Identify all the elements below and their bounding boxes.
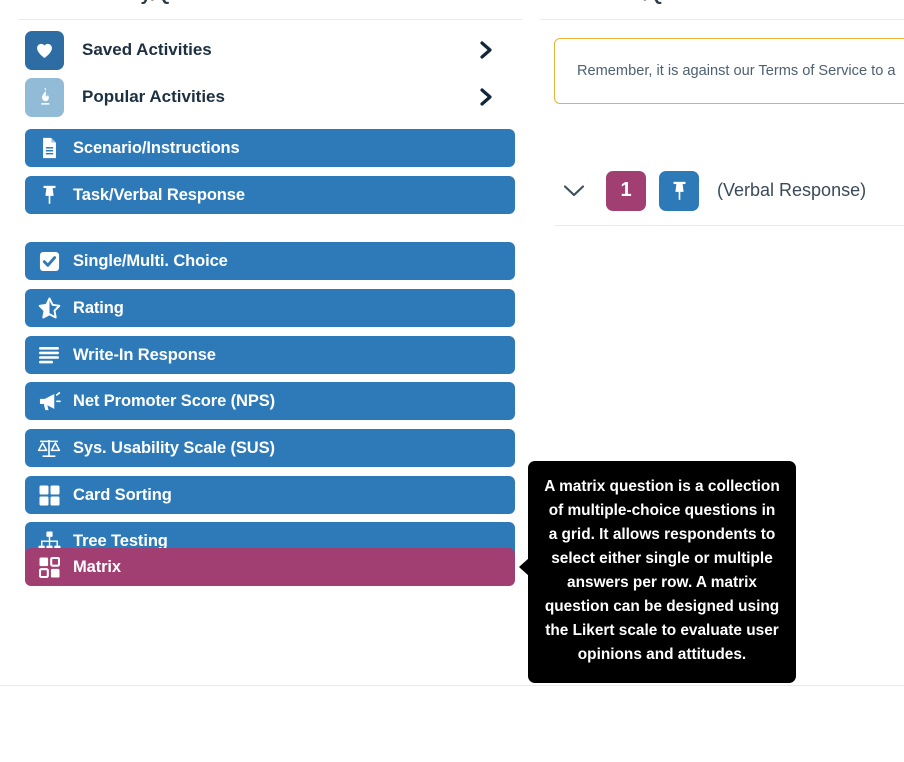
activity-type-label: Scenario/Instructions: [73, 139, 240, 158]
flame-icon: [25, 78, 64, 117]
activity-type-rating[interactable]: Rating: [25, 289, 515, 327]
activity-type-label: Task/Verbal Response: [73, 186, 245, 205]
question-type-label: (Verbal Response): [717, 180, 866, 201]
chevron-right-icon[interactable]: [477, 85, 495, 109]
checkbox-checked-icon: [32, 251, 66, 272]
chevron-right-icon[interactable]: [477, 38, 495, 62]
sidebar-item-saved-activities[interactable]: Saved Activities: [25, 28, 505, 72]
activity-type-label: Matrix: [73, 558, 121, 577]
half-star-icon: [32, 297, 66, 319]
activity-type-task-verbal-response[interactable]: Task/Verbal Response: [25, 176, 515, 214]
grid-squares-icon: [32, 485, 66, 506]
activity-type-system-usability-scale[interactable]: Sys. Usability Scale (SUS): [25, 429, 515, 467]
sidebar-item-label: Saved Activities: [82, 40, 212, 60]
warning-text: Remember, it is against our Terms of Ser…: [577, 63, 896, 79]
activity-type-label: Single/Multi. Choice: [73, 252, 228, 271]
question-number-badge: 1: [606, 171, 646, 211]
sidebar-item-label: Popular Activities: [82, 87, 225, 107]
question-flow-row[interactable]: 1 (Verbal Response): [554, 156, 904, 226]
activity-type-label: Write-In Response: [73, 346, 216, 365]
modal-bottom-divider: [0, 685, 904, 686]
sidebar-item-popular-activities[interactable]: Popular Activities: [25, 75, 505, 119]
balance-scale-icon: [32, 437, 66, 459]
activity-type-label: Net Promoter Score (NPS): [73, 392, 275, 411]
heart-icon: [25, 31, 64, 70]
activity-type-label: Card Sorting: [73, 486, 172, 505]
chevron-down-icon[interactable]: [554, 183, 594, 199]
activity-type-scenario-instructions[interactable]: Scenario/Instructions: [25, 129, 515, 167]
pin-icon: [659, 171, 699, 211]
pin-icon: [32, 184, 66, 206]
megaphone-icon: [32, 391, 66, 412]
document-icon: [32, 137, 66, 159]
terms-of-service-warning-banner: Remember, it is against our Terms of Ser…: [554, 38, 904, 104]
tooltip-text: A matrix question is a collection of mul…: [544, 478, 779, 663]
matrix-icon: [32, 557, 66, 578]
tooltip-arrow-icon: [519, 558, 529, 576]
activity-type-card-sorting[interactable]: Card Sorting: [25, 476, 515, 514]
activity-type-matrix[interactable]: Matrix: [25, 548, 515, 586]
page-title-add-activity: Add Activity/Question: [42, 0, 238, 6]
activity-type-net-promoter-score[interactable]: Net Promoter Score (NPS): [25, 382, 515, 420]
activity-type-label: Rating: [73, 299, 124, 318]
add-activity-modal: Add Activity/Question Activities/Questio…: [0, 0, 904, 686]
activity-type-single-multi-choice[interactable]: Single/Multi. Choice: [25, 242, 515, 280]
activity-type-write-in-response[interactable]: Write-In Response: [25, 336, 515, 374]
page-title-activities-flow: Activities/Questions Flow: [560, 0, 789, 6]
activity-type-list-panel: Saved Activities Popular Activities: [0, 20, 540, 685]
matrix-tooltip: A matrix question is a collection of mul…: [528, 461, 796, 683]
activity-type-label: Sys. Usability Scale (SUS): [73, 439, 275, 458]
text-lines-icon: [32, 346, 66, 364]
